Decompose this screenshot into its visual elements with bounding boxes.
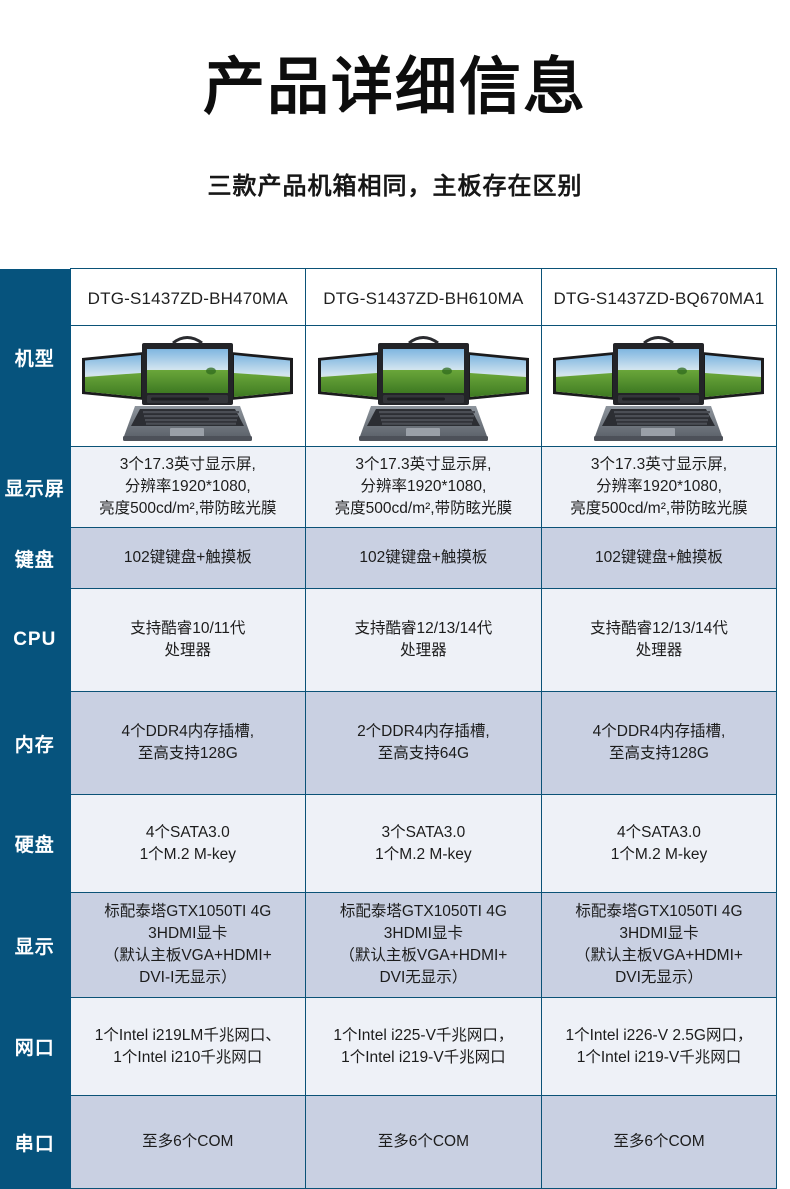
cell-cpu-2: 支持酷睿12/13/14代 处理器	[541, 589, 777, 692]
cell-network-2: 1个Intel i226-V 2.5G网口， 1个Intel i219-V千兆网…	[541, 998, 777, 1096]
portable-workstation-icon	[551, 326, 766, 446]
cell-graphics-2: 标配泰塔GTX1050TI 4G 3HDMI显卡 （默认主板VGA+HDMI+ …	[541, 893, 777, 998]
cell-storage-0: 4个SATA3.0 1个M.2 M-key	[70, 795, 306, 893]
row-label-network: 网口	[0, 998, 70, 1096]
model-name-1: DTG-S1437ZD-BH610MA	[306, 269, 542, 326]
cell-graphics-0: 标配泰塔GTX1050TI 4G 3HDMI显卡 （默认主板VGA+HDMI+ …	[70, 893, 306, 998]
page-heading: 产品详细信息 三款产品机箱相同，主板存在区别	[0, 0, 790, 201]
cell-display-panel-1: 3个17.3英寸显示屏, 分辨率1920*1080, 亮度500cd/m²,带防…	[306, 447, 542, 528]
cell-keyboard-2: 102键键盘+触摸板	[541, 528, 777, 589]
table-row-model-name: 机型 DTG-S1437ZD-BH470MA DTG-S1437ZD-BH610…	[0, 269, 777, 326]
cell-serial-1: 至多6个COM	[306, 1096, 542, 1189]
row-label-display-panel: 显示屏	[0, 447, 70, 528]
table-row-serial: 串口 至多6个COM 至多6个COM 至多6个COM	[0, 1096, 777, 1189]
cell-keyboard-1: 102键键盘+触摸板	[306, 528, 542, 589]
cell-display-panel-0: 3个17.3英寸显示屏, 分辨率1920*1080, 亮度500cd/m²,带防…	[70, 447, 306, 528]
cell-keyboard-0: 102键键盘+触摸板	[70, 528, 306, 589]
product-image-1	[306, 326, 542, 447]
table-row-memory: 内存 4个DDR4内存插槽, 至高支持128G 2个DDR4内存插槽, 至高支持…	[0, 692, 777, 795]
page-title: 产品详细信息	[0, 55, 790, 120]
row-label-model: 机型	[0, 269, 70, 447]
table-row-graphics: 显示 标配泰塔GTX1050TI 4G 3HDMI显卡 （默认主板VGA+HDM…	[0, 893, 777, 998]
product-image-0	[70, 326, 306, 447]
product-spec-page: 产品详细信息 三款产品机箱相同，主板存在区别 机型 DTG-S1437ZD-BH…	[0, 0, 790, 1163]
cell-storage-1: 3个SATA3.0 1个M.2 M-key	[306, 795, 542, 893]
cell-serial-0: 至多6个COM	[70, 1096, 306, 1189]
cell-network-1: 1个Intel i225-V千兆网口， 1个Intel i219-V千兆网口	[306, 998, 542, 1096]
table-row-display-panel: 显示屏 3个17.3英寸显示屏, 分辨率1920*1080, 亮度500cd/m…	[0, 447, 777, 528]
table-row-model-photo	[0, 326, 777, 447]
cell-cpu-0: 支持酷睿10/11代 处理器	[70, 589, 306, 692]
model-name-2: DTG-S1437ZD-BQ670MA1	[541, 269, 777, 326]
row-label-cpu: CPU	[0, 589, 70, 692]
cell-serial-2: 至多6个COM	[541, 1096, 777, 1189]
row-label-graphics: 显示	[0, 893, 70, 998]
row-label-storage: 硬盘	[0, 795, 70, 893]
table-row-cpu: CPU 支持酷睿10/11代 处理器 支持酷睿12/13/14代 处理器 支持酷…	[0, 589, 777, 692]
row-label-memory: 内存	[0, 692, 70, 795]
model-name-0: DTG-S1437ZD-BH470MA	[70, 269, 306, 326]
table-row-storage: 硬盘 4个SATA3.0 1个M.2 M-key 3个SATA3.0 1个M.2…	[0, 795, 777, 893]
row-label-keyboard: 键盘	[0, 528, 70, 589]
cell-cpu-1: 支持酷睿12/13/14代 处理器	[306, 589, 542, 692]
cell-graphics-1: 标配泰塔GTX1050TI 4G 3HDMI显卡 （默认主板VGA+HDMI+ …	[306, 893, 542, 998]
specification-table: 机型 DTG-S1437ZD-BH470MA DTG-S1437ZD-BH610…	[0, 268, 777, 1189]
cell-memory-2: 4个DDR4内存插槽, 至高支持128G	[541, 692, 777, 795]
cell-memory-0: 4个DDR4内存插槽, 至高支持128G	[70, 692, 306, 795]
portable-workstation-icon	[80, 326, 295, 446]
page-subtitle: 三款产品机箱相同，主板存在区别	[0, 166, 790, 201]
product-image-2	[541, 326, 777, 447]
cell-display-panel-2: 3个17.3英寸显示屏, 分辨率1920*1080, 亮度500cd/m²,带防…	[541, 447, 777, 528]
table-row-keyboard: 键盘 102键键盘+触摸板 102键键盘+触摸板 102键键盘+触摸板	[0, 528, 777, 589]
row-label-serial: 串口	[0, 1096, 70, 1189]
cell-network-0: 1个Intel i219LM千兆网口、 1个Intel i210千兆网口	[70, 998, 306, 1096]
cell-memory-1: 2个DDR4内存插槽, 至高支持64G	[306, 692, 542, 795]
portable-workstation-icon	[316, 326, 531, 446]
table-row-network: 网口 1个Intel i219LM千兆网口、 1个Intel i210千兆网口 …	[0, 998, 777, 1096]
cell-storage-2: 4个SATA3.0 1个M.2 M-key	[541, 795, 777, 893]
